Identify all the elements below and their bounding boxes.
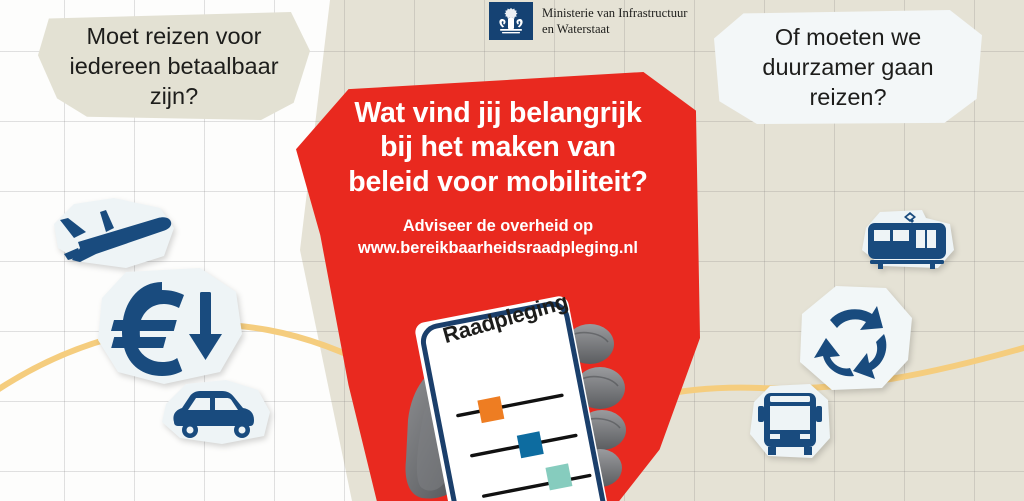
- speech-bubble-left-text: Moet reizen voor iedereen betaalbaar zij…: [54, 21, 294, 111]
- banner-cta: Adviseer de overheid op www.bereikbaarhe…: [296, 199, 700, 259]
- ministry-line-1: Ministerie van Infrastructuur: [542, 6, 687, 20]
- poster-canvas: Moet reizen voor iedereen betaalbaar zij…: [0, 0, 1024, 501]
- slider-track-3: [484, 476, 590, 497]
- car-icon: [160, 378, 272, 446]
- slider-handle-3: [545, 463, 572, 490]
- recycle-arrows-icon: [790, 284, 918, 396]
- ministry-name: Ministerie van Infrastructuuren Watersta…: [542, 2, 687, 37]
- slider-track-1: [458, 395, 562, 415]
- slider-handle-2: [517, 431, 544, 458]
- headline-line-2: bij het maken van: [316, 130, 680, 164]
- ministry-line-2: en Waterstaat: [542, 22, 610, 36]
- dutch-government-coat-of-arms-icon: [489, 2, 533, 40]
- slider-handle-1: [477, 396, 504, 423]
- banner-headline: Wat vind jij belangrijk bij het maken va…: [296, 72, 700, 199]
- phone-in-hand: Raadpleging: [404, 300, 630, 501]
- headline-line-3: beleid voor mobiliteit?: [316, 165, 680, 199]
- tram-icon: [860, 210, 956, 272]
- airplane-icon: [52, 198, 176, 268]
- euro-down-arrow-icon: [96, 268, 244, 386]
- phone-sliders: [404, 300, 630, 501]
- speech-bubble-right-text: Of moeten we duurzamer gaan reizen?: [730, 22, 966, 112]
- speech-bubble-right: Of moeten we duurzamer gaan reizen?: [714, 10, 982, 124]
- red-banner-content: Wat vind jij belangrijk bij het maken va…: [296, 72, 700, 260]
- ministry-logo: Ministerie van Infrastructuuren Watersta…: [489, 2, 687, 40]
- cta-url[interactable]: www.bereikbaarheidsraadpleging.nl: [308, 238, 688, 260]
- speech-bubble-left: Moet reizen voor iedereen betaalbaar zij…: [38, 12, 310, 120]
- cta-text: Adviseer de overheid op: [308, 216, 688, 238]
- headline-line-1: Wat vind jij belangrijk: [316, 96, 680, 130]
- bus-icon: [748, 384, 832, 462]
